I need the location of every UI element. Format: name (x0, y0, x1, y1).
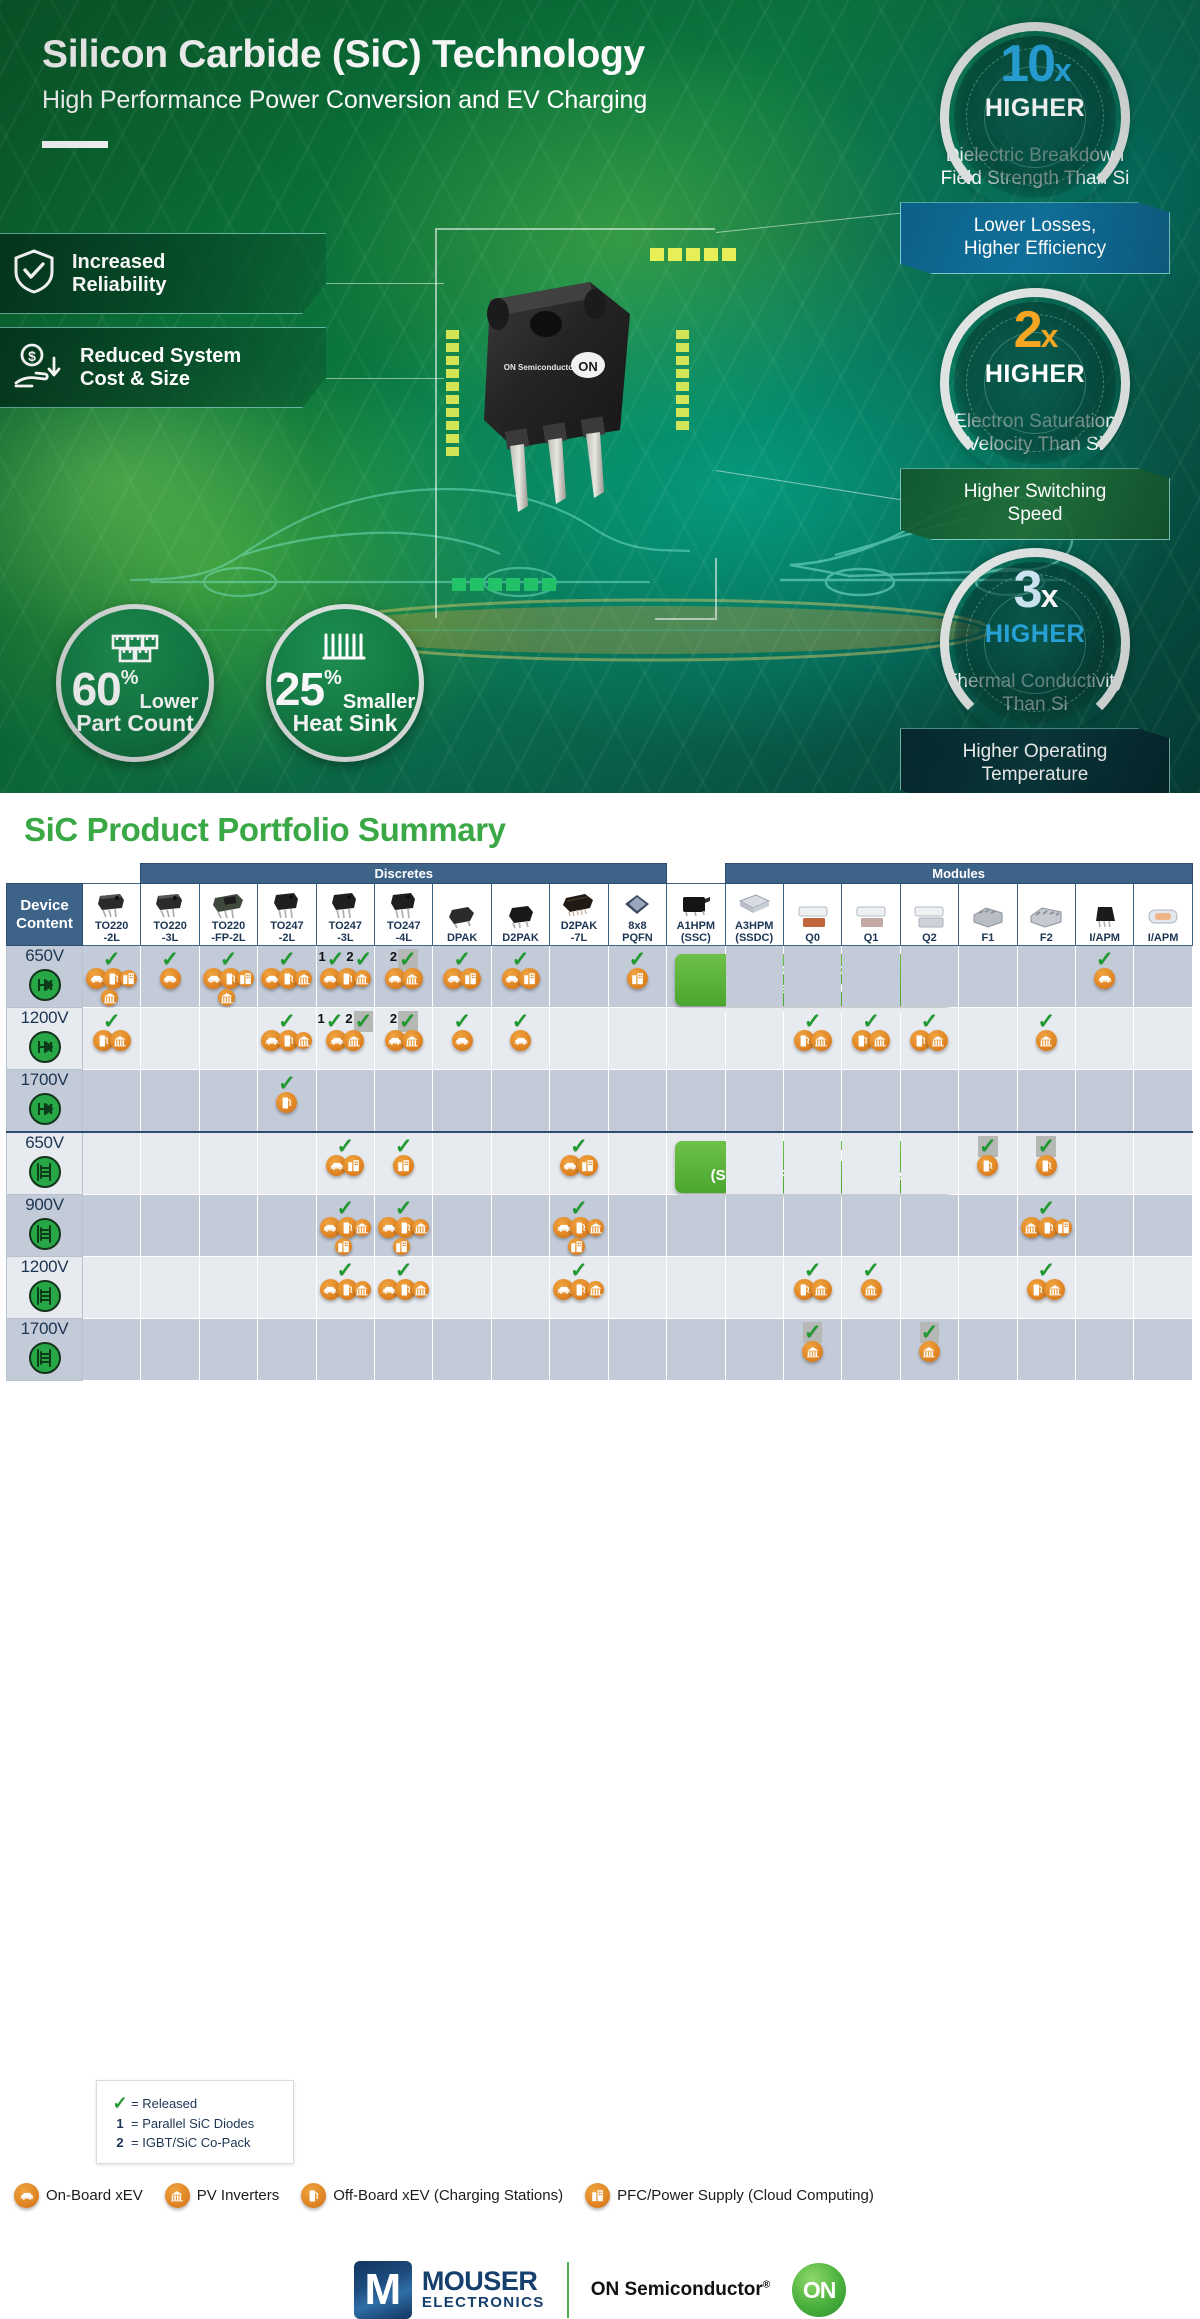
hero-vignette (0, 0, 1200, 793)
cell-app-icons (376, 1030, 431, 1051)
cell-1700V-q1 (842, 1319, 900, 1381)
cell-1200V-to220-2l: ✓ (83, 1008, 141, 1070)
package-thumb-d2pak (492, 902, 549, 932)
cell-1200V-a1hpm (667, 1257, 725, 1319)
package-thumb-to247-4l (375, 890, 432, 920)
check-released-icon: ✓ (278, 1073, 296, 1094)
app-icon-xev (14, 2183, 39, 2208)
cell-marks: ✓ (375, 1195, 432, 1219)
cell-1700V-dpak (433, 1070, 491, 1133)
cell-900V-q0 (783, 1195, 841, 1257)
cell-marks: ✓ (842, 1257, 899, 1281)
cell-1200V-to247-4l: 2✓ (375, 1008, 433, 1070)
cell-app-icons (318, 1217, 373, 1255)
app-icon-pfc (568, 1238, 585, 1255)
cell-marks: ✓ (550, 1257, 607, 1281)
cell-650V-iapm-2 (1134, 946, 1192, 1008)
check-released-icon: ✓ (395, 1198, 413, 1219)
footer-divider (567, 2262, 569, 2318)
cell-650V-to247-3l: ✓ (316, 1132, 374, 1195)
check-released-icon: ✓ (109, 2094, 131, 2112)
mouser-logo[interactable]: M MOUSER ELECTRONICS (354, 2261, 545, 2319)
table-row: 1700V✓✓ (7, 1319, 1193, 1381)
key-item-text: = Parallel SiC Diodes (131, 2116, 254, 2131)
package-thumb-a1hpm (667, 890, 724, 920)
cell-marks: ✓ (317, 1195, 374, 1219)
check-released-icon: ✓ (1037, 1198, 1055, 1219)
cell-1700V-to220-3l (141, 1070, 199, 1133)
key-item: 2= IGBT/SiC Co-Pack (109, 2135, 281, 2150)
cell-650V-f2 (1017, 946, 1075, 1008)
legend-item-label: On-Board xEV (46, 2187, 143, 2204)
legend-key-box: ✓= Released1= Parallel SiC Diodes2= IGBT… (96, 2080, 294, 2164)
column-label-line2: -4L (395, 932, 412, 944)
check-released-icon: ✓ (453, 1011, 471, 1032)
app-icon-pv (218, 989, 235, 1006)
cell-1700V-a3hpm (725, 1070, 783, 1133)
cell-650V-d2pak: ✓ (491, 946, 549, 1008)
check-released-icon: ✓ (570, 1198, 588, 1219)
cell-650V-to220-3l (141, 1132, 199, 1195)
cell-marks: ✓ (83, 1008, 140, 1032)
cell-1700V-q2: ✓ (900, 1319, 958, 1381)
on-logo-icon: ON (792, 2263, 846, 2317)
cell-1200V-iapm-2 (1134, 1008, 1192, 1070)
app-icon-pv (811, 1279, 832, 1300)
column-header-f2: F2 (1017, 884, 1075, 946)
cell-650V-q0 (783, 946, 841, 1008)
check-pending-icon: ✓ (920, 1322, 940, 1343)
column-label-line2: I/APM (1148, 932, 1179, 944)
column-label-line2: -2L (279, 932, 296, 944)
cell-1200V-to247-3l: ✓ (316, 1257, 374, 1319)
cell-1700V-to220-2l (83, 1319, 141, 1381)
cell-1200V-to247-2l: ✓ (258, 1008, 316, 1070)
cell-650V-to247-2l: ✓ (258, 946, 316, 1008)
cell-marks: ✓ (901, 1008, 958, 1032)
cell-1700V-to220-2l (83, 1070, 141, 1133)
cell-marks: 1✓2✓ (317, 1008, 374, 1032)
cell-650V-8x8-pqfn (608, 1132, 666, 1195)
cell-1200V-d2pak-7l: ✓ (550, 1257, 608, 1319)
cell-650V-f1: ✓ (959, 1132, 1017, 1195)
cell-app-icons (435, 1030, 490, 1051)
app-icon-pfc (460, 968, 481, 989)
cell-900V-to220-2l (83, 1195, 141, 1257)
cell-900V-to247-4l: ✓ (375, 1195, 433, 1257)
cell-1200V-iapm-1 (1075, 1008, 1133, 1070)
column-label-line2: F2 (1040, 932, 1053, 944)
app-icon-offboard (1036, 1155, 1057, 1176)
app-icon-pfc (627, 968, 648, 989)
cell-650V-to220-2l: ✓ (83, 946, 141, 1008)
cell-marks: ✓ (609, 946, 666, 970)
cell-marks: ✓ (141, 946, 198, 970)
check-released-icon: ✓ (804, 1260, 822, 1281)
check-released-icon: ✓ (512, 949, 530, 970)
app-icon-pv (811, 1030, 832, 1051)
app-icon-pfc (335, 1238, 352, 1255)
column-header-to220-2l: TO220-2L (83, 884, 141, 946)
column-label-line1: 8x8 (628, 920, 646, 932)
app-icon-pv (802, 1341, 823, 1362)
row-voltage: 1200V (7, 1257, 82, 1277)
cell-marks: ✓ (959, 1133, 1016, 1157)
cell-650V-to247-4l: ✓ (375, 1132, 433, 1195)
app-icon-pv (587, 1281, 604, 1298)
cell-1200V-q1: ✓ (842, 1257, 900, 1319)
column-label-line2: -FP-2L (211, 932, 245, 944)
footnote-marker: 2 (390, 1011, 397, 1026)
cell-app-icons (318, 1155, 373, 1176)
cell-900V-d2pak-7l: ✓ (550, 1195, 608, 1257)
check-released-icon: ✓ (862, 1011, 880, 1032)
cell-1700V-dpak (433, 1319, 491, 1381)
column-label-line2: -3L (162, 932, 179, 944)
check-released-icon: ✓ (337, 1260, 355, 1281)
app-icon-pfc (393, 1155, 414, 1176)
check-released-icon: ✓ (395, 1260, 413, 1281)
cell-650V-q2 (900, 1132, 958, 1195)
cell-1200V-q1: ✓ (842, 1008, 900, 1070)
header-device-content: Device Content (7, 884, 83, 946)
package-thumb-dpak (433, 902, 490, 932)
cell-1700V-to247-3l (316, 1070, 374, 1133)
cell-900V-q1 (842, 1195, 900, 1257)
check-released-icon: ✓ (570, 1136, 588, 1157)
device-symbol-diode-icon (28, 1111, 62, 1130)
mouser-subname: ELECTRONICS (422, 2294, 545, 2311)
app-icon-pfc (393, 1238, 410, 1255)
cell-650V-to220-fp2l: ✓ (199, 946, 257, 1008)
package-thumb-q2 (901, 902, 958, 932)
column-header-to247-2l: TO247-2L (258, 884, 316, 946)
cell-app-icons (493, 1030, 548, 1051)
key-item-text: = Released (131, 2096, 197, 2111)
app-icon-offboard (301, 2183, 326, 2208)
cell-marks: ✓ (784, 1257, 841, 1281)
portfolio-table-body: Device ContentTO220-2LTO220-3LTO220-FP-2… (7, 884, 1193, 1381)
cell-app-icons (843, 1279, 898, 1300)
cell-app-icons (435, 968, 490, 989)
row-voltage: 1700V (7, 1070, 82, 1090)
key-item: 1= Parallel SiC Diodes (109, 2116, 281, 2131)
column-label-line1: TO247 (387, 920, 420, 932)
cell-marks: ✓ (784, 1008, 841, 1032)
package-thumb-to220-fp2l (200, 890, 257, 920)
row-label-diode-650V: 650V (7, 946, 83, 1008)
portfolio-table-head: Discretes Modules (7, 864, 1193, 884)
cell-1700V-to247-4l (375, 1070, 433, 1133)
app-icon-pfc (585, 2183, 610, 2208)
header-device-content-label: Device Content (16, 897, 73, 932)
cell-1200V-d2pak: ✓ (491, 1008, 549, 1070)
column-label-line2: F1 (981, 932, 994, 944)
cell-app-icons (493, 968, 548, 989)
legend-item-pfc: PFC/Power Supply (Cloud Computing) (585, 2183, 874, 2208)
cell-app-icons (902, 1030, 957, 1051)
cell-1700V-iapm-1 (1075, 1319, 1133, 1381)
table-row: 1700V✓ (7, 1070, 1193, 1133)
row-voltage: 1200V (7, 1008, 82, 1028)
check-released-icon: ✓ (453, 949, 471, 970)
table-row: 1200V✓✓✓✓✓✓ (7, 1257, 1193, 1319)
column-label-line2: -7L (571, 932, 588, 944)
column-label-line1: TO220 (212, 920, 245, 932)
device-symbol-mosfet-icon (28, 1298, 62, 1317)
row-label-mosfet-650V: 650V (7, 1132, 83, 1195)
column-header-8x8-pqfn: 8x8PQFN (608, 884, 666, 946)
footnote-marker: 2 (109, 2135, 131, 2150)
package-thumb-q1 (842, 902, 899, 932)
cell-1200V-to220-fp2l (199, 1257, 257, 1319)
footer-logos: M MOUSER ELECTRONICS ON Semiconductor® O… (0, 2261, 1200, 2319)
column-label-line1: TO247 (329, 920, 362, 932)
app-icon-pfc (1055, 1219, 1072, 1236)
key-item: ✓= Released (109, 2094, 281, 2112)
cell-app-icons (1019, 1030, 1074, 1051)
cell-1200V-to220-2l (83, 1257, 141, 1319)
group-bar-gap (667, 864, 725, 884)
cell-marks: ✓ (258, 946, 315, 970)
cell-650V-to220-2l (83, 1132, 141, 1195)
cell-1700V-to247-2l (258, 1319, 316, 1381)
group-header-modules: Modules (725, 864, 1192, 884)
check-released-icon: ✓ (103, 1011, 121, 1032)
column-header-to220-3l: TO220-3L (141, 884, 199, 946)
group-bar-row: Discretes Modules (7, 864, 1193, 884)
cell-marks: ✓ (842, 1008, 899, 1032)
cell-900V-a1hpm (667, 1195, 725, 1257)
cell-1700V-d2pak (491, 1070, 549, 1133)
table-row: 650V✓✓✓Full SiC Modules(SiC MOSFETs + Si… (7, 1132, 1193, 1195)
cell-marks: 2✓ (375, 1008, 432, 1032)
check-pending-icon: ✓ (1036, 1136, 1056, 1157)
cell-app-icons (201, 968, 256, 1006)
cell-app-icons (318, 1279, 373, 1300)
check-released-icon: ✓ (1037, 1260, 1055, 1281)
check-released-icon: ✓ (278, 1011, 296, 1032)
cell-650V-iapm-2 (1134, 1132, 1192, 1195)
group-bar-spacer (7, 864, 141, 884)
app-icon-pfc (519, 968, 540, 989)
cell-marks: ✓ (317, 1257, 374, 1281)
row-voltage: 650V (7, 1133, 82, 1153)
cell-marks: 1✓2✓ (317, 946, 374, 970)
app-icon-pfc (343, 1155, 364, 1176)
column-label-line2: (SSC) (681, 932, 711, 944)
app-icon-pv (412, 1219, 429, 1236)
cell-app-icons (143, 968, 198, 989)
cell-1700V-f1 (959, 1070, 1017, 1133)
cell-marks: ✓ (317, 1133, 374, 1157)
cell-1700V-q0: ✓ (783, 1319, 841, 1381)
row-label-mosfet-900V: 900V (7, 1195, 83, 1257)
cell-1200V-8x8-pqfn (608, 1257, 666, 1319)
device-symbol-mosfet-icon (28, 1360, 62, 1379)
cell-1700V-to220-fp2l (199, 1070, 257, 1133)
cell-1200V-to220-3l (141, 1257, 199, 1319)
cell-650V-d2pak (491, 1132, 549, 1195)
cell-app-icons (610, 968, 665, 989)
cell-app-icons (551, 1217, 606, 1255)
cell-900V-to247-2l (258, 1195, 316, 1257)
column-label-line1: TO247 (270, 920, 303, 932)
app-icon-pv (110, 1030, 131, 1051)
app-icon-pv (295, 970, 312, 987)
cell-650V-d2pak-7l: ✓ (550, 1132, 608, 1195)
cell-650V-to220-fp2l (199, 1132, 257, 1195)
legend-item-xev: On-Board xEV (14, 2183, 143, 2208)
cell-marks: ✓ (433, 1008, 490, 1032)
cell-650V-iapm-1 (1075, 1132, 1133, 1195)
package-thumb-to220-3l (141, 890, 198, 920)
cell-1700V-f2 (1017, 1070, 1075, 1133)
cell-app-icons (318, 968, 373, 989)
cell-app-icons (785, 1279, 840, 1300)
cell-1200V-to220-fp2l (199, 1008, 257, 1070)
portfolio-table: Discretes Modules Device ContentTO220-2L… (6, 863, 1193, 1381)
cell-900V-q2 (900, 1195, 958, 1257)
app-icon-pv (402, 968, 423, 989)
cell-1200V-iapm-1 (1075, 1257, 1133, 1319)
app-icon-pv (1044, 1279, 1065, 1300)
cell-900V-to220-3l (141, 1195, 199, 1257)
check-released-icon: ✓ (220, 949, 238, 970)
app-icon-pv (1036, 1030, 1057, 1051)
cell-app-icons (259, 1092, 314, 1113)
check-released-icon: ✓ (629, 949, 647, 970)
cell-650V-f1 (959, 946, 1017, 1008)
cell-app-icons (318, 1030, 373, 1051)
cell-900V-iapm-1 (1075, 1195, 1133, 1257)
key-item-text: = IGBT/SiC Co-Pack (131, 2135, 251, 2150)
package-thumb-8x8-pqfn (609, 890, 666, 920)
cell-650V-to247-4l: 2✓ (375, 946, 433, 1008)
cell-marks: ✓ (200, 946, 257, 970)
device-symbol-diode-icon (28, 1049, 62, 1068)
row-label-diode-1200V: 1200V (7, 1008, 83, 1070)
cell-1200V-a3hpm (725, 1257, 783, 1319)
cell-900V-dpak (433, 1195, 491, 1257)
column-header-iapm-2: I/APM (1134, 884, 1192, 946)
column-header-q2: Q2 (900, 884, 958, 946)
column-label-line2: D2PAK (502, 932, 538, 944)
cell-marks: ✓ (1076, 946, 1133, 970)
column-header-a1hpm: A1HPM(SSC) (667, 884, 725, 946)
check-released-icon: ✓ (1096, 949, 1114, 970)
cell-650V-q1 (842, 946, 900, 1008)
cell-650V-a1hpm: Full SiC Modules(SiC MOSFETs + SiC Diode… (667, 1132, 725, 1195)
check-released-icon: ✓ (103, 949, 121, 970)
cell-900V-8x8-pqfn (608, 1195, 666, 1257)
cell-app-icons (259, 1030, 314, 1051)
cell-1200V-q0: ✓ (783, 1008, 841, 1070)
legend-item-label: PV Inverters (197, 2187, 280, 2204)
cell-app-icons (551, 1155, 606, 1176)
cell-app-icons (1019, 1217, 1074, 1238)
cell-1200V-dpak (433, 1257, 491, 1319)
cell-1700V-to247-3l (316, 1319, 374, 1381)
hero-banner: ON ON Semiconductor Silicon Carbide (SiC… (0, 0, 1200, 793)
cell-900V-to247-3l: ✓ (316, 1195, 374, 1257)
package-thumb-f2 (1018, 902, 1075, 932)
footnote-marker: 1 (317, 1011, 324, 1026)
cell-marks: ✓ (375, 1257, 432, 1281)
cell-650V-to247-3l: 1✓2✓ (316, 946, 374, 1008)
cell-650V-q0 (783, 1132, 841, 1195)
cell-1700V-q2 (900, 1070, 958, 1133)
app-icon-xev (1094, 968, 1115, 989)
cell-1200V-to220-3l (141, 1008, 199, 1070)
column-header-d2pak-7l: D2PAK-7L (550, 884, 608, 946)
check-released-icon: ✓ (921, 1011, 939, 1032)
column-label-line2: DPAK (447, 932, 477, 944)
column-label-line2: (SSDC) (735, 932, 773, 944)
column-label-line2: Q0 (805, 932, 820, 944)
cell-650V-to247-2l (258, 1132, 316, 1195)
app-icon-pv (861, 1279, 882, 1300)
cell-marks: ✓ (492, 946, 549, 970)
cell-app-icons (1019, 1155, 1074, 1176)
check-released-icon: ✓ (862, 1260, 880, 1281)
app-icon-pfc (577, 1155, 598, 1176)
cell-1200V-f1 (959, 1257, 1017, 1319)
check-pending-icon: ✓ (398, 1011, 418, 1032)
cell-900V-iapm-2 (1134, 1195, 1192, 1257)
column-label-line2: -2L (103, 932, 120, 944)
legend-item-offboard: Off-Board xEV (Charging Stations) (301, 2183, 563, 2208)
column-label-line2: PQFN (622, 932, 653, 944)
legend-item-label: Off-Board xEV (Charging Stations) (333, 2187, 563, 2204)
cell-900V-d2pak (491, 1195, 549, 1257)
on-semiconductor-name: ON Semiconductor® (591, 2279, 770, 2301)
check-released-icon: ✓ (512, 1011, 530, 1032)
cell-1200V-to247-2l (258, 1257, 316, 1319)
cell-app-icons (843, 1030, 898, 1051)
row-voltage: 1700V (7, 1319, 82, 1339)
portfolio-section: SiC Product Portfolio Summary Discretes … (0, 793, 1200, 1381)
cell-650V-d2pak-7l (550, 946, 608, 1008)
check-released-icon: ✓ (327, 949, 345, 970)
app-icon-pfc (120, 970, 137, 987)
cell-marks: ✓ (1018, 1195, 1075, 1219)
cell-marks: ✓ (1018, 1133, 1075, 1157)
check-released-icon: ✓ (804, 1011, 822, 1032)
column-label-line1: A3HPM (735, 920, 774, 932)
table-row: 900V✓✓✓✓ (7, 1195, 1193, 1257)
cell-900V-a3hpm (725, 1195, 783, 1257)
column-header-q1: Q1 (842, 884, 900, 946)
cell-app-icons (376, 1279, 431, 1300)
cell-1200V-to247-3l: 1✓2✓ (316, 1008, 374, 1070)
cell-650V-iapm-1: ✓ (1075, 946, 1133, 1008)
package-thumb-to247-3l (317, 890, 374, 920)
mouser-mark-icon: M (354, 2261, 412, 2319)
cell-1200V-dpak: ✓ (433, 1008, 491, 1070)
app-icon-pv (402, 1030, 423, 1051)
app-icon-pv (587, 1219, 604, 1236)
cell-1700V-f2 (1017, 1319, 1075, 1381)
cell-app-icons (551, 1279, 606, 1300)
check-released-icon: ✓ (1037, 1011, 1055, 1032)
cell-1200V-f1 (959, 1008, 1017, 1070)
cell-1200V-f2: ✓ (1017, 1257, 1075, 1319)
device-symbol-mosfet-icon (28, 1174, 62, 1193)
package-thumb-iapm-2 (1134, 902, 1191, 932)
check-pending-icon: ✓ (354, 1011, 374, 1032)
cell-app-icons (785, 1341, 840, 1362)
